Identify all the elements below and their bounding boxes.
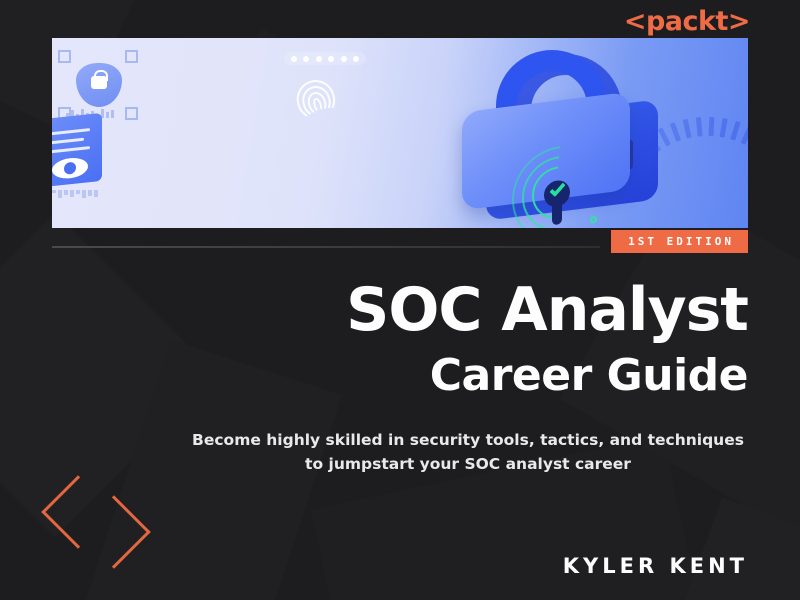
packt-logo: <packt>	[624, 6, 750, 37]
fingerprint-icon	[290, 73, 342, 127]
padlock-icon	[444, 48, 674, 223]
book-tagline: Become highly skilled in security tools,…	[188, 428, 748, 476]
node-dot-icon	[590, 216, 597, 224]
cover-artwork	[52, 38, 748, 228]
book-cover: <packt>	[0, 0, 800, 600]
edition-badge: 1ST EDITION	[611, 230, 748, 253]
book-subtitle: Career Guide	[430, 350, 748, 401]
author-name: KYLER KENT	[563, 554, 748, 578]
divider-rule	[52, 246, 600, 248]
shield-lock-icon	[76, 63, 122, 107]
password-dots	[284, 52, 366, 65]
document-eye-icon	[52, 113, 102, 187]
chevron-right-icon	[88, 500, 168, 580]
eye-icon	[52, 156, 88, 180]
document-barcode-decoration	[52, 190, 106, 198]
book-title: SOC Analyst	[346, 280, 748, 341]
